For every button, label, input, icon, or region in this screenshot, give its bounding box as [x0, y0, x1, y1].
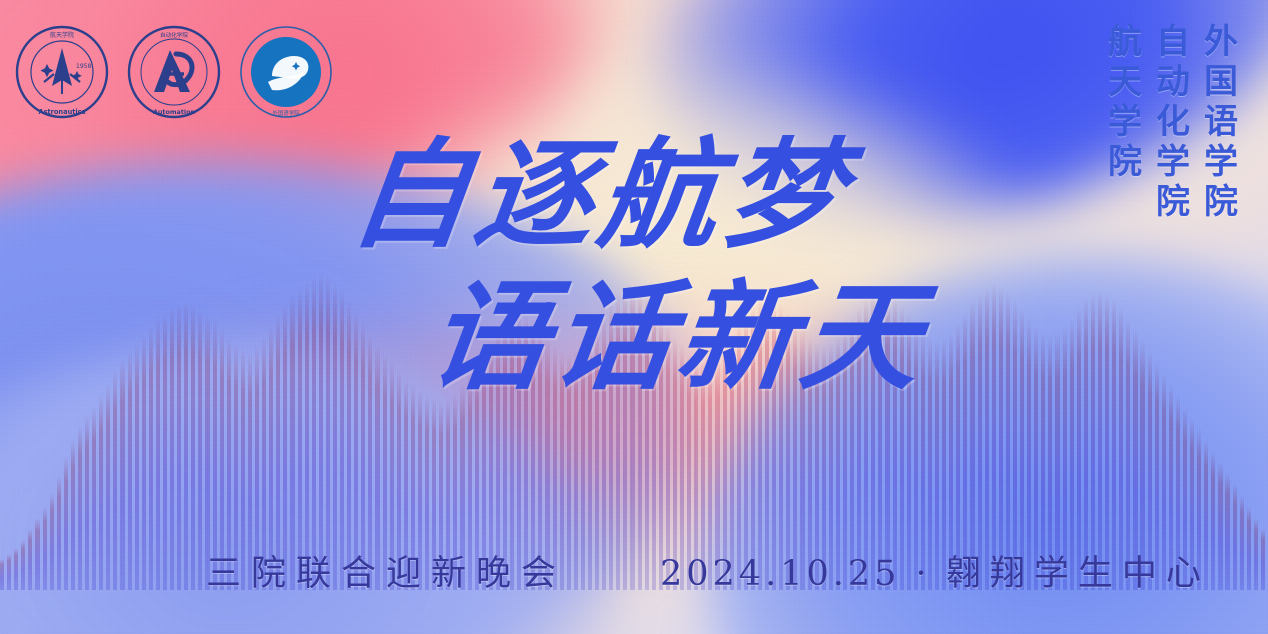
school-logo-group: 1958 Astronautics 航天学院 Automation 自动化学院 — [14, 24, 334, 120]
event-venue: 翱翔学生中心 — [946, 554, 1210, 594]
waveform-bar — [85, 415, 89, 590]
college-char: 国 — [1204, 62, 1238, 102]
waveform-bar — [50, 493, 54, 590]
waveform-bar — [43, 507, 47, 590]
waveform-bar — [1218, 462, 1222, 590]
svg-text:Automation: Automation — [153, 108, 196, 116]
event-date-venue: 2024.10.25 · 翱翔学生中心 — [660, 545, 1210, 596]
waveform-bar — [7, 554, 11, 590]
waveform-bar — [57, 476, 61, 590]
waveform-bar — [1261, 529, 1265, 590]
waveform-bar — [99, 395, 103, 590]
poster-title: 自逐航梦 语话新天 — [0, 135, 1268, 398]
college-char: 天 — [1108, 62, 1142, 102]
waveform-bar — [1211, 451, 1215, 590]
college-char: 外 — [1204, 22, 1238, 62]
college-char: 动 — [1156, 62, 1190, 102]
waveform-bar — [1247, 507, 1251, 590]
waveform-bar — [35, 518, 39, 590]
waveform-bar — [1225, 473, 1229, 590]
waveform-bar — [71, 440, 75, 590]
svg-text:自动化学院: 自动化学院 — [160, 31, 188, 39]
waveform-bar — [0, 559, 4, 590]
waveform-bar — [106, 384, 110, 590]
waveform-bar — [28, 529, 32, 590]
title-line-2: 语话新天 — [423, 277, 1268, 397]
title-line-1: 自逐航梦 — [345, 135, 1268, 255]
event-name: 三院联合迎新晚会 — [206, 545, 566, 596]
waveform-bar — [78, 426, 82, 590]
waveform-bar — [1240, 496, 1244, 590]
svg-text:航天学院: 航天学院 — [50, 31, 74, 39]
waveform-bar — [92, 407, 96, 590]
svg-text:1958: 1958 — [76, 63, 91, 70]
school-of-astronautics-logo: 1958 Astronautics 航天学院 — [14, 24, 110, 120]
waveform-bar — [64, 457, 68, 590]
college-char: 自 — [1156, 22, 1190, 62]
college-char: 航 — [1108, 22, 1142, 62]
school-of-automation-logo: Automation 自动化学院 — [126, 24, 222, 120]
waveform-bar — [21, 540, 25, 590]
waveform-bar — [113, 370, 117, 590]
svg-text:Astronautics: Astronautics — [38, 108, 85, 116]
waveform-bar — [14, 548, 18, 590]
school-of-foreign-languages-logo: 外国语学院 — [238, 24, 334, 120]
waveform-bar — [1233, 484, 1237, 590]
event-date: 2024.10.25 — [660, 554, 900, 594]
waveform-bar — [1254, 518, 1258, 590]
event-poster: 1958 Astronautics 航天学院 Automation 自动化学院 — [0, 0, 1268, 634]
event-separator: · — [916, 554, 931, 594]
svg-text:外国语学院: 外国语学院 — [273, 109, 301, 117]
